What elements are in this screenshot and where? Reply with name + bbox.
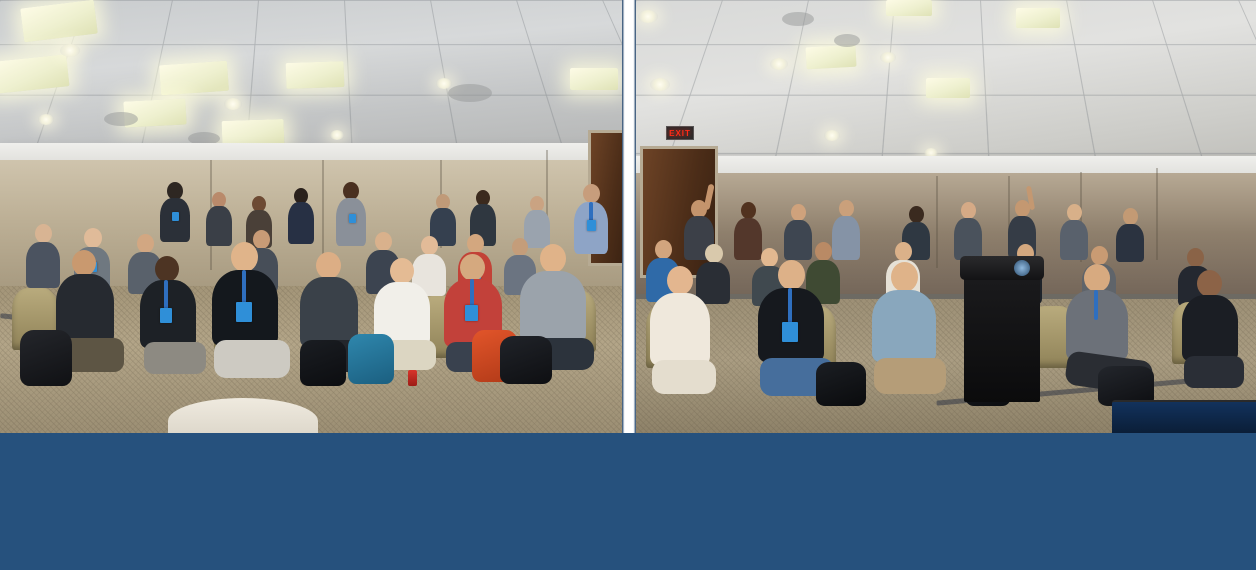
panel-light bbox=[886, 0, 932, 16]
panel-light bbox=[926, 78, 970, 98]
downlight bbox=[436, 78, 452, 89]
lanyard bbox=[470, 279, 474, 307]
downlight bbox=[880, 52, 896, 63]
photo-strip: EXIT bbox=[0, 0, 1256, 433]
head bbox=[741, 202, 756, 219]
panel-light bbox=[159, 61, 229, 96]
head bbox=[791, 204, 806, 221]
legs bbox=[144, 342, 206, 374]
ceiling-vent bbox=[782, 12, 814, 26]
head bbox=[231, 242, 258, 272]
projector bbox=[960, 256, 1044, 280]
exit-sign: EXIT bbox=[666, 126, 694, 140]
badge bbox=[236, 302, 252, 322]
projector-lens bbox=[1014, 260, 1030, 276]
head bbox=[1067, 204, 1082, 221]
downlight bbox=[330, 130, 344, 140]
conference-audience-photo-right: EXIT bbox=[636, 0, 1256, 433]
lanyard bbox=[1094, 290, 1098, 320]
head bbox=[909, 206, 924, 223]
head bbox=[583, 184, 600, 203]
torso bbox=[520, 271, 586, 343]
panel-light bbox=[570, 68, 618, 90]
legs bbox=[1184, 356, 1244, 388]
head bbox=[316, 252, 341, 279]
lanyard bbox=[242, 270, 246, 304]
backpack bbox=[20, 330, 72, 386]
laptop-bag bbox=[500, 336, 552, 384]
head bbox=[460, 254, 485, 281]
head bbox=[540, 244, 566, 273]
legs bbox=[652, 360, 716, 394]
downlight bbox=[38, 114, 54, 125]
downlight bbox=[224, 98, 242, 110]
backpack-teal bbox=[348, 334, 394, 384]
downlight bbox=[770, 58, 788, 70]
projector-cart-skirt bbox=[964, 272, 1040, 402]
head bbox=[667, 266, 693, 295]
head-with-glasses bbox=[778, 260, 805, 290]
torso bbox=[1182, 295, 1238, 361]
audience-member-front bbox=[140, 256, 196, 372]
downlight bbox=[60, 44, 80, 57]
laptop bbox=[1112, 400, 1256, 433]
head bbox=[1015, 200, 1030, 217]
ceiling-vent bbox=[104, 112, 138, 126]
downlight bbox=[824, 130, 840, 141]
audience-member-front bbox=[650, 266, 710, 392]
audience-member-front bbox=[758, 260, 824, 394]
torso bbox=[872, 290, 936, 362]
head bbox=[1197, 270, 1222, 297]
downlight bbox=[650, 78, 670, 91]
badge bbox=[465, 305, 478, 321]
head bbox=[961, 202, 976, 219]
session-title-slide: EXIT bbox=[0, 0, 1256, 570]
head bbox=[839, 200, 854, 217]
panel-light bbox=[805, 45, 856, 70]
head-with-cap bbox=[1084, 264, 1110, 292]
head-with-cap bbox=[72, 250, 96, 276]
head bbox=[155, 256, 179, 282]
conference-audience-photo-left bbox=[0, 0, 622, 433]
panel-light bbox=[286, 61, 345, 89]
panel-light bbox=[1016, 8, 1060, 28]
audience-member-front bbox=[212, 242, 278, 376]
ceiling-vent bbox=[834, 34, 860, 47]
head bbox=[891, 262, 918, 292]
audience-front-row bbox=[636, 256, 1256, 406]
backpack bbox=[816, 362, 866, 406]
legs bbox=[874, 358, 946, 394]
lanyard bbox=[788, 288, 792, 324]
lanyard bbox=[164, 280, 168, 310]
ceiling-vent bbox=[448, 84, 492, 102]
head bbox=[1123, 208, 1138, 225]
photo-divider bbox=[622, 0, 636, 433]
head bbox=[390, 258, 414, 284]
badge bbox=[160, 308, 172, 323]
torso bbox=[650, 293, 710, 365]
badge bbox=[782, 322, 798, 342]
title-banner: Observability in Practice with ArcGIS Mo… bbox=[0, 433, 1256, 570]
torso bbox=[300, 277, 358, 347]
downlight bbox=[638, 10, 658, 23]
soda-can bbox=[408, 370, 417, 386]
backpack bbox=[300, 340, 346, 386]
audience-member-front bbox=[872, 262, 936, 392]
legs bbox=[214, 340, 290, 378]
audience-front-row bbox=[0, 236, 622, 386]
audience-member-front bbox=[1182, 270, 1238, 388]
